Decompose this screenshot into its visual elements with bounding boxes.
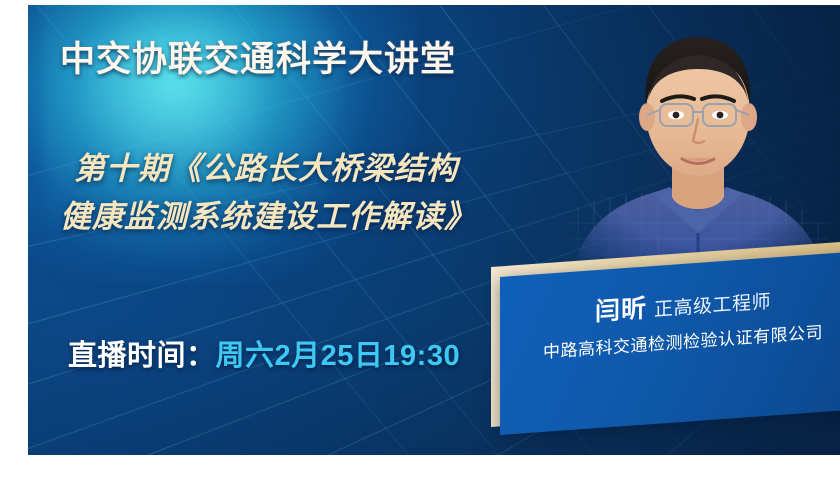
subtitle-line-2: 健康监测系统建设工作解读》: [60, 193, 476, 241]
live-time: 直播时间：周六2月25日19:30: [68, 332, 460, 374]
subtitle: 第十期《公路长大桥梁结构 健康监测系统建设工作解读》: [74, 145, 476, 241]
speaker-title: 正高级工程师: [654, 292, 771, 321]
subtitle-line-1: 第十期《公路长大桥梁结构: [74, 151, 458, 186]
panel-content: 闫昕正高级工程师 中路高科交通检测检验认证有限公司: [500, 250, 840, 435]
poster-canvas: 中交协联交通科学大讲堂 第十期《公路长大桥梁结构 健康监测系统建设工作解读》 直…: [28, 5, 840, 455]
speaker-name: 闫昕: [595, 294, 647, 326]
live-time-label: 直播时间：: [68, 340, 216, 372]
speaker-panel: 闫昕正高级工程师 中路高科交通检测检验认证有限公司: [491, 267, 840, 447]
live-time-value: 周六2月25日19:30: [216, 340, 461, 372]
main-title: 中交协联交通科学大讲堂: [60, 31, 456, 82]
